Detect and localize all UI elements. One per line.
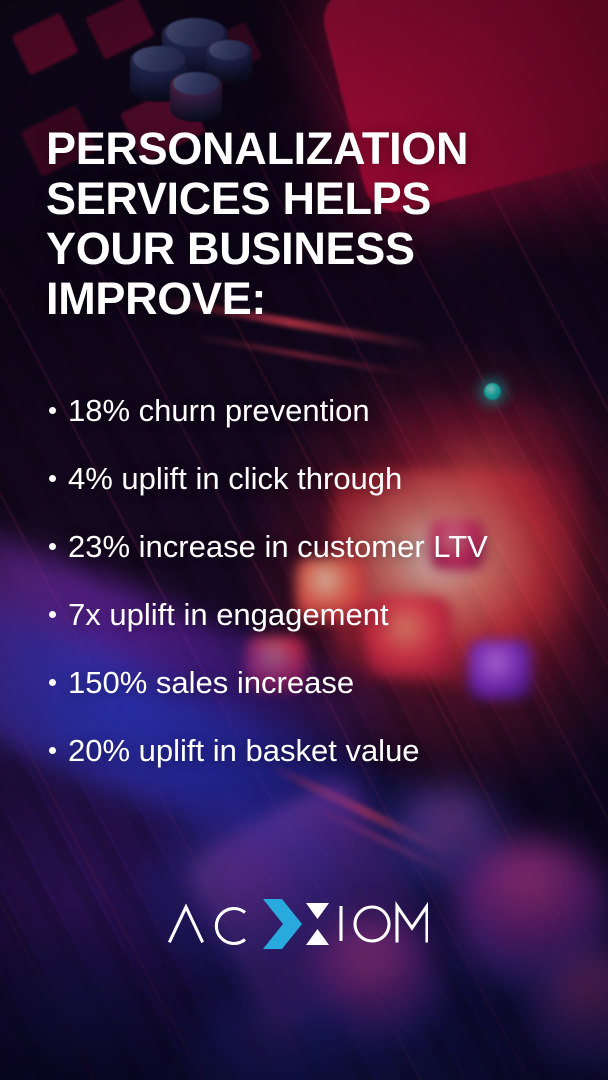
benefit-label: 150% sales increase (68, 665, 354, 700)
headline: PERSONALIZATION SERVICES HELPS YOUR BUSI… (46, 124, 566, 324)
headline-line-1: PERSONALIZATION (46, 124, 566, 174)
bullet-icon (49, 611, 56, 618)
benefits-list: 18% churn prevention 4% uplift in click … (46, 386, 598, 794)
logo-letter-a (170, 907, 202, 941)
acxiom-logo (166, 893, 428, 953)
list-item: 7x uplift in engagement (46, 590, 598, 658)
benefit-label: 23% increase in customer LTV (68, 529, 488, 564)
acxiom-logo-icon (166, 893, 428, 953)
logo-letter-o (355, 907, 389, 941)
list-item: 18% churn prevention (46, 386, 598, 454)
logo-letter-c (216, 909, 245, 944)
bullet-icon (49, 543, 56, 550)
bullet-icon (49, 475, 56, 482)
benefit-label: 7x uplift in engagement (68, 597, 389, 632)
benefit-label: 4% uplift in click through (68, 461, 402, 496)
headline-line-4: IMPROVE: (46, 274, 566, 324)
headline-line-3: YOUR BUSINESS (46, 224, 566, 274)
headline-line-2: SERVICES HELPS (46, 174, 566, 224)
logo-letter-m (397, 906, 427, 941)
bullet-icon (49, 679, 56, 686)
bullet-icon (49, 747, 56, 754)
poster-content: PERSONALIZATION SERVICES HELPS YOUR BUSI… (0, 0, 608, 1080)
bullet-icon (49, 407, 56, 414)
promo-poster: PERSONALIZATION SERVICES HELPS YOUR BUSI… (0, 0, 608, 1080)
logo-letter-x-chevron (263, 899, 302, 949)
logo-letter-x-lower-triangle (306, 929, 329, 945)
benefit-label: 18% churn prevention (68, 393, 370, 428)
benefit-label: 20% uplift in basket value (68, 733, 420, 768)
logo-letter-x-upper-triangle (306, 903, 329, 919)
list-item: 150% sales increase (46, 658, 598, 726)
list-item: 23% increase in customer LTV (46, 522, 598, 590)
list-item: 20% uplift in basket value (46, 726, 598, 794)
list-item: 4% uplift in click through (46, 454, 598, 522)
